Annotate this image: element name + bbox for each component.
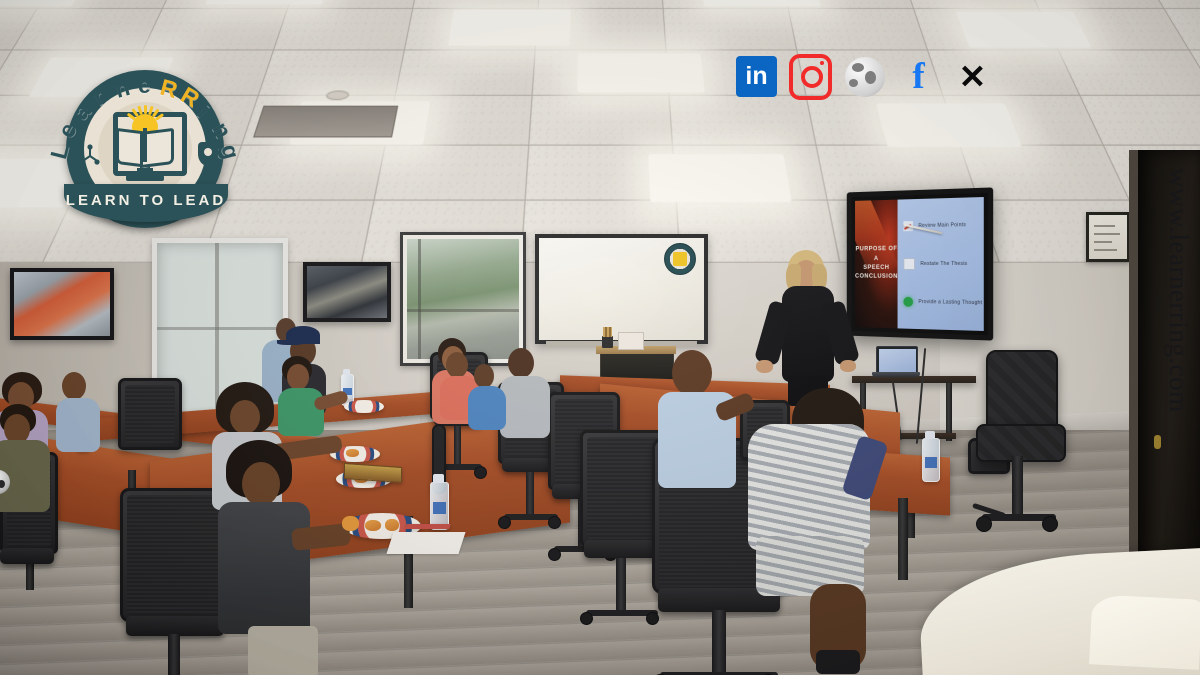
scene-grade [0,0,1200,675]
screenshot-root: PURPOSE OF A SPEECH CONCLUSION Review Ma… [0,0,1200,675]
classroom-scene: PURPOSE OF A SPEECH CONCLUSION Review Ma… [0,0,1200,675]
